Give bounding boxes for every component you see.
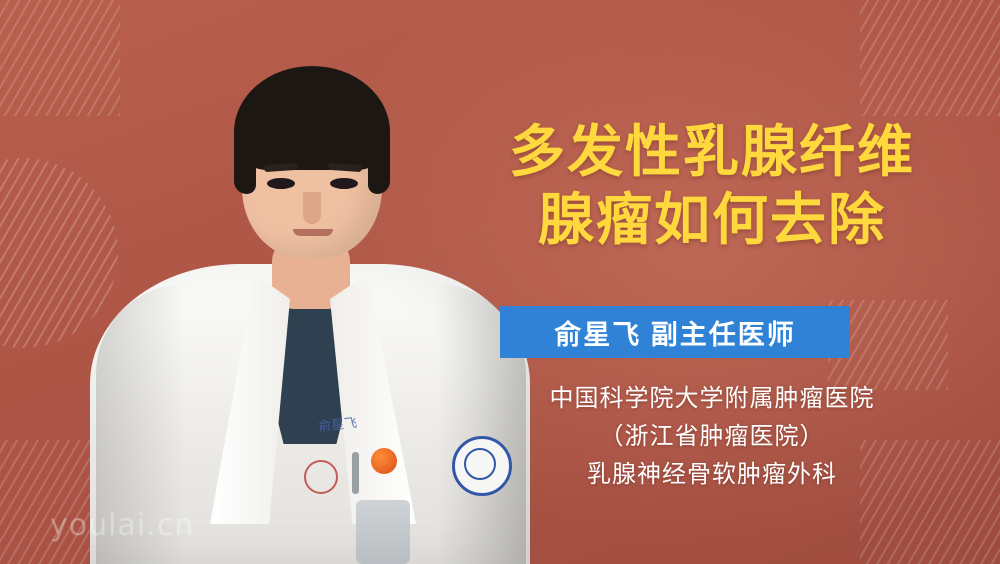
hair-side-left (234, 120, 256, 194)
title-block: 多发性乳腺纤维 腺瘤如何去除 (452, 118, 972, 254)
mouth (293, 229, 333, 236)
hatch-decoration-top-right (860, 0, 1000, 116)
doctor-affiliation: 中国科学院大学附属肿瘤医院 （浙江省肿瘤医院） 乳腺神经骨软肿瘤外科 (452, 380, 972, 494)
chest-emblem (304, 460, 338, 494)
doctor-name-and-rank: 俞星飞 副主任医师 (554, 313, 796, 352)
coat-embroidery-text: 俞星飞 (317, 412, 358, 435)
eye-right (330, 178, 358, 189)
eye-left (267, 178, 295, 189)
doctor-name-bar: 俞星飞 副主任医师 (500, 306, 850, 358)
hair-side-right (368, 120, 390, 194)
title-line-2: 腺瘤如何去除 (452, 186, 972, 254)
video-thumbnail: 俞星飞 youlai.cn 多发性乳腺纤维 腺瘤如何去除 俞星飞 副主任医师 中… (0, 0, 1000, 564)
badge-reel (371, 448, 397, 474)
title-line-1: 多发性乳腺纤维 (452, 118, 972, 186)
hair (234, 66, 390, 170)
affiliation-line-1: 中国科学院大学附属肿瘤医院 (452, 380, 972, 418)
id-card-holder (356, 500, 410, 564)
affiliation-line-3: 乳腺神经骨软肿瘤外科 (452, 456, 972, 494)
site-watermark: youlai.cn (50, 508, 194, 543)
nose (303, 192, 321, 224)
pen-clip (352, 452, 359, 494)
affiliation-line-2: （浙江省肿瘤医院） (452, 418, 972, 456)
